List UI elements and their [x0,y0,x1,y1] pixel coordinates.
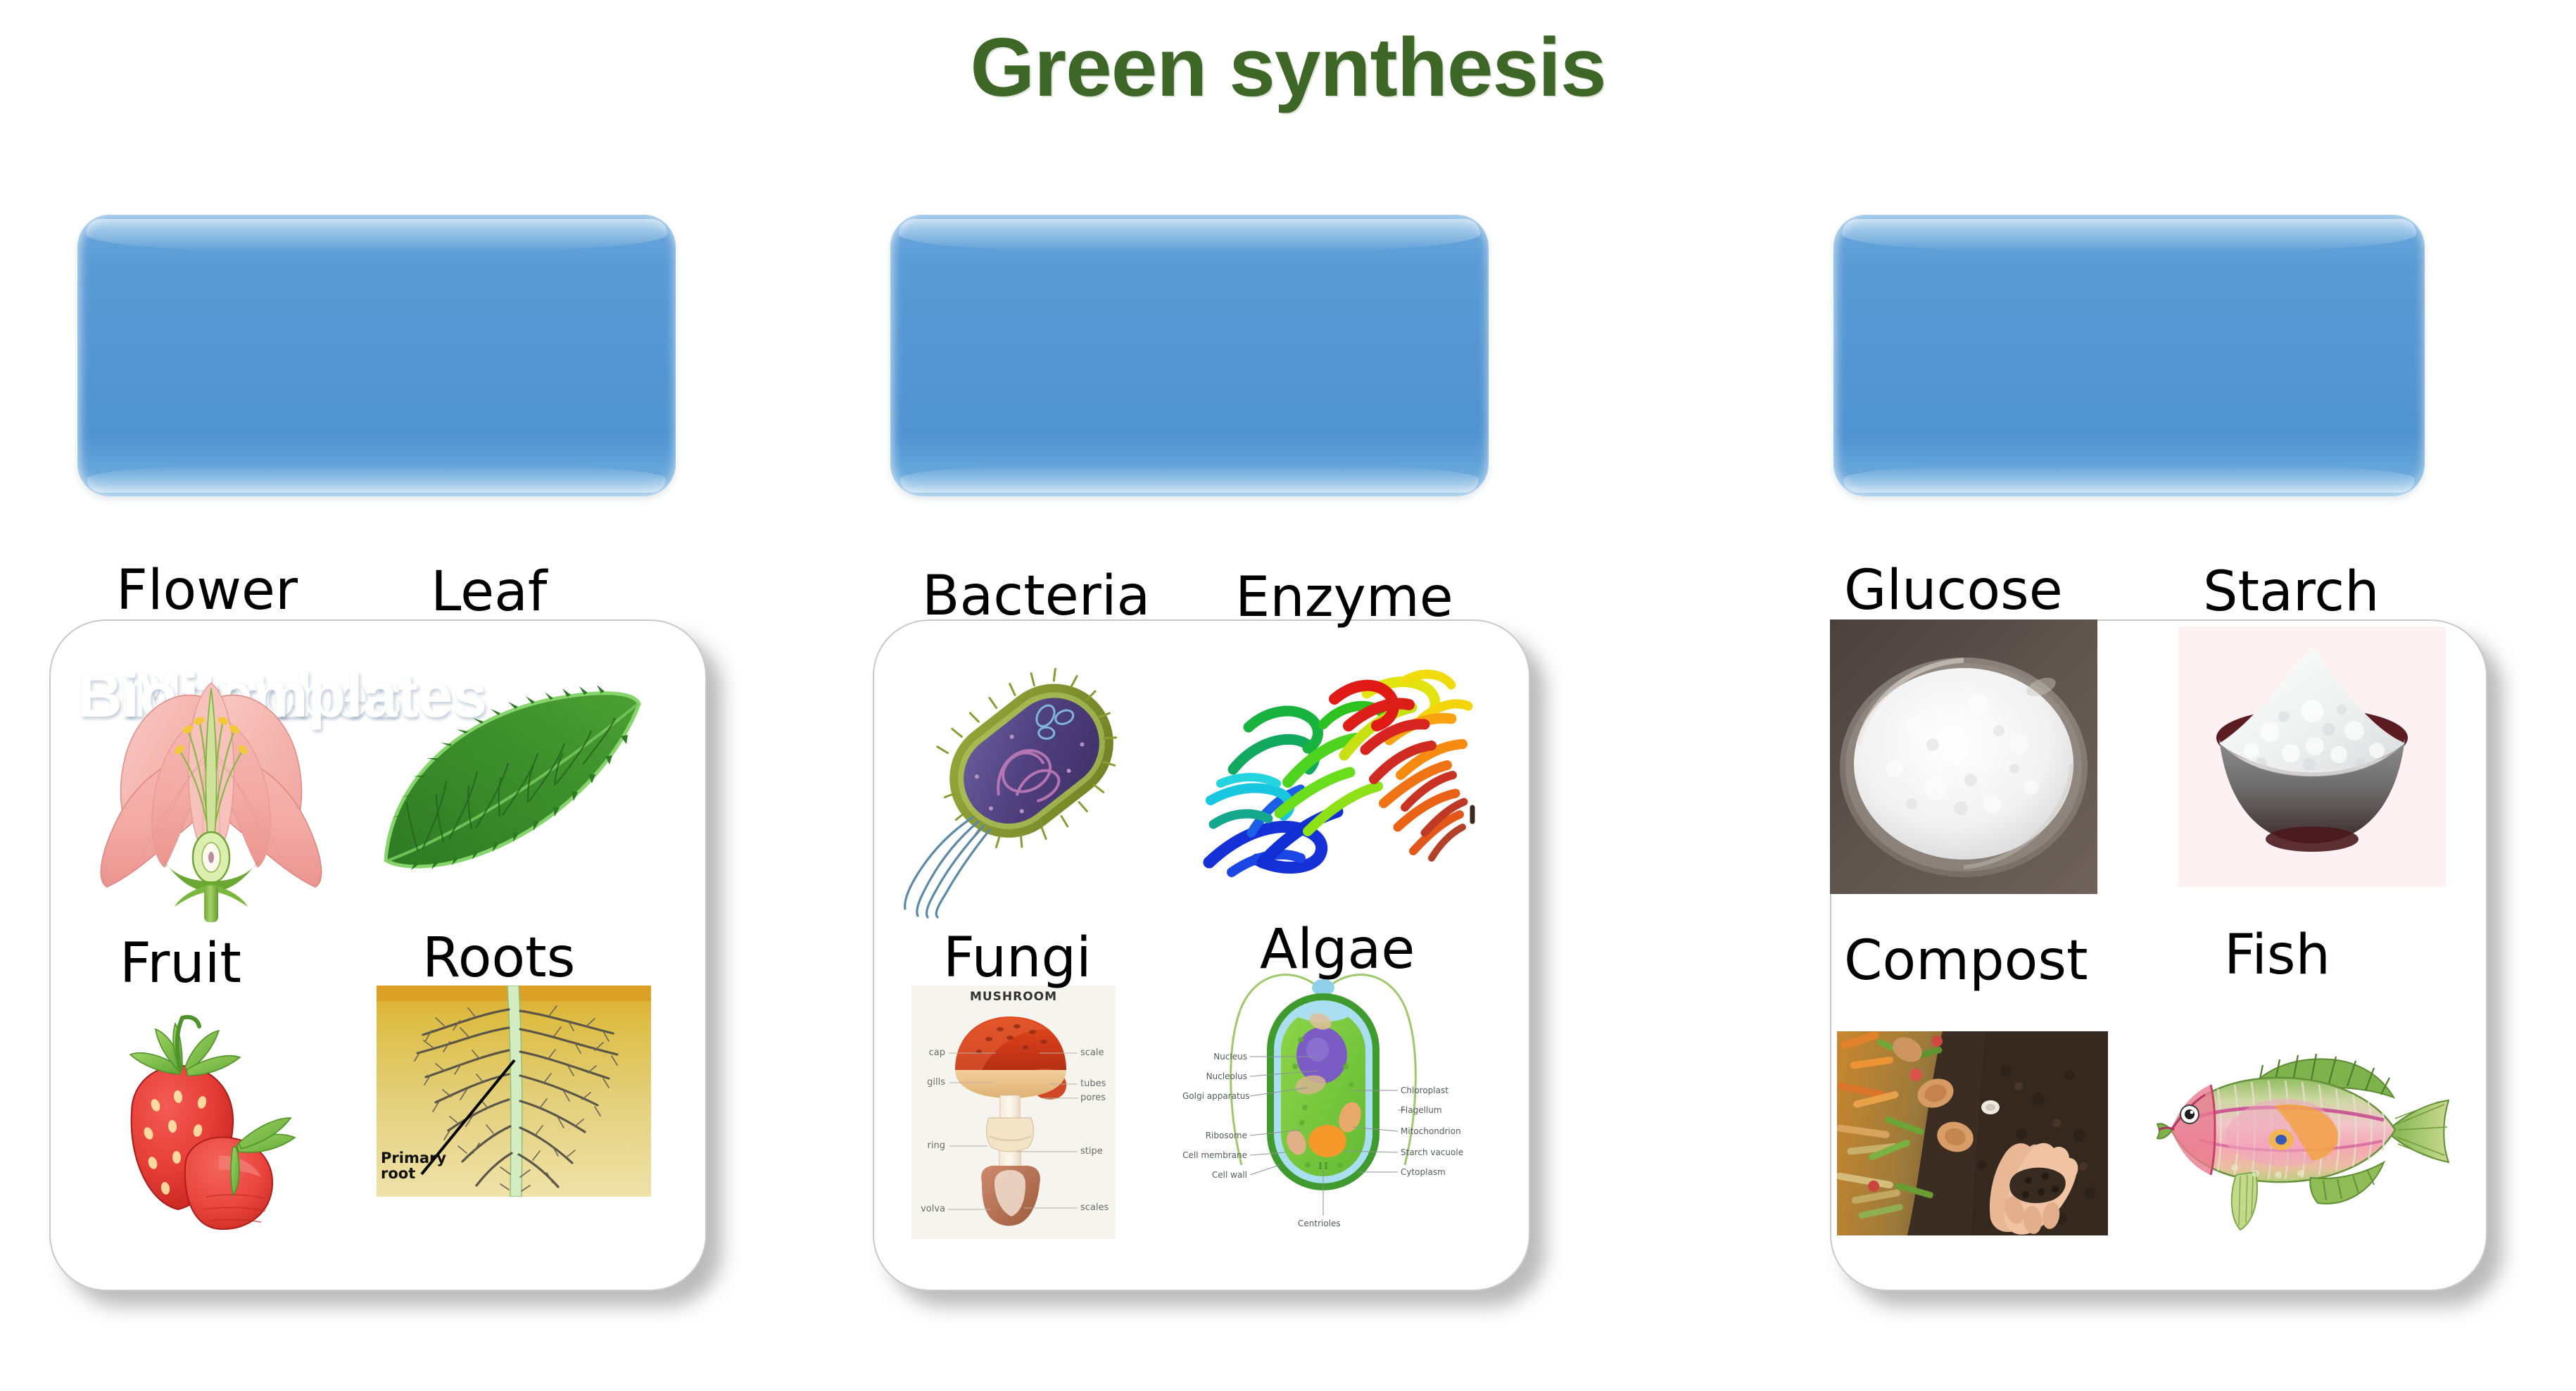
header-box-bio-templates[interactable] [1833,215,2425,496]
algae-tag-centrioles: Centrioles [1298,1219,1341,1228]
compost-soil-hands-photo [1837,1031,2108,1235]
fungi-tag-scale: scale [1080,1047,1104,1058]
label-fungi: Fungi [943,931,1092,986]
label-flower: Flower [116,563,298,618]
starch-powder-bowl-photo [2178,627,2446,887]
bacterium-cell-illustration [894,637,1161,919]
label-roots: Roots [422,931,575,986]
fungi-tag-ring: ring [914,1140,945,1151]
fungi-tag-volva: volva [914,1204,945,1214]
label-enzyme: Enzyme [1235,570,1453,625]
fungi-tag-cap: cap [914,1047,945,1058]
algae-tag-nucleolus: Nucleolus [1182,1071,1247,1081]
algae-cell-diagram: Nucleus Nucleolus Golgi apparatus Riboso… [1182,954,1464,1250]
algae-tag-cytoplasm: Cytoplasm [1401,1167,1446,1177]
fungi-tag-gills: gills [914,1077,945,1088]
leaf-illustration [373,676,648,887]
fungi-tag-stipe: stipe [1080,1146,1103,1157]
fungi-tag-scales: scales [1080,1202,1109,1213]
label-fruit: Fruit [120,936,241,991]
label-compost: Compost [1844,933,2088,988]
strawberry-illustration [88,1014,313,1246]
mushroom-anatomy-diagram: MUSHROOM [911,986,1116,1239]
algae-tag-cell-membrane: Cell membrane [1182,1150,1247,1160]
algae-tag-flagellum: Flagellum [1401,1105,1442,1115]
protein-ribbon-structure [1189,651,1485,883]
label-glucose: Glucose [1844,563,2063,618]
label-leaf: Leaf [431,565,547,619]
algae-tag-golgi: Golgi apparatus [1182,1091,1247,1101]
glucose-powder-photo [1830,619,2097,894]
fungi-tag-pores: pores [1080,1093,1106,1103]
label-bacteria: Bacteria [922,569,1150,624]
fungi-tag-tubes: tubes [1080,1078,1106,1089]
root-system-diagram: Primary root [377,986,651,1197]
flower-illustration [70,634,352,922]
label-fish: Fish [2224,928,2330,983]
page-title: Green synthesis [0,20,2576,115]
fish-illustration [2150,1024,2460,1235]
roots-diagram-label: Primary root [381,1150,441,1181]
header-box-plants[interactable] [77,215,676,496]
algae-tag-chloroplast: Chloroplast [1401,1085,1448,1095]
algae-tag-cell-wall: Cell wall [1182,1170,1247,1180]
algae-tag-ribosome: Ribosome [1182,1131,1247,1140]
algae-tag-starch-vacuole: Starch vacuole [1401,1147,1463,1157]
header-box-microbes[interactable] [890,215,1489,496]
label-algae: Algae [1260,922,1415,977]
algae-tag-mitochondrion: Mitochondrion [1401,1126,1461,1136]
algae-tag-nucleus: Nucleus [1182,1052,1247,1062]
label-starch: Starch [2203,565,2380,619]
